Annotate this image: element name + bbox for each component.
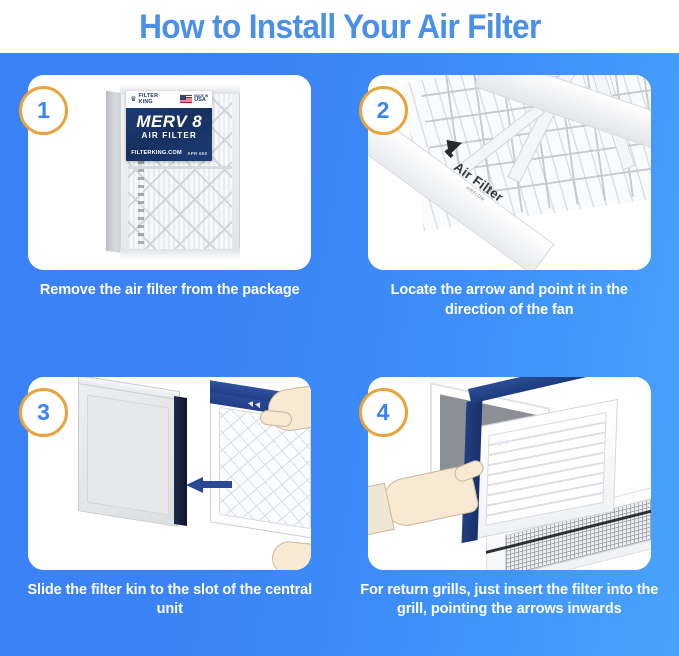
filter-product-image: ♛ FILTER KING MADE IN [106, 86, 240, 258]
step-3: 3 [0, 355, 340, 656]
step-caption-4: For return grills, just insert the filte… [359, 581, 659, 620]
made-in-usa-text: MADE IN USA [194, 95, 208, 104]
step-caption-3: Slide the filter kin to the slot of the … [20, 581, 320, 620]
header-band: How to Install Your Air Filter [0, 0, 679, 53]
step-2: 2 Air Filter AIRFLOW Locate the arrow an… [340, 53, 679, 355]
step-image-card-3 [28, 377, 311, 570]
filter-top-navy [468, 377, 608, 404]
apr-text: APR 650 [187, 151, 207, 156]
filter-label: ♛ FILTER KING MADE IN [126, 91, 212, 161]
step-badge-2: 2 [359, 86, 408, 135]
arrow-head [186, 477, 203, 493]
arrow-shaft [202, 481, 232, 488]
step-1: 1 [0, 53, 340, 355]
step-badge-1: 1 [19, 86, 68, 135]
filter-corner-photo: Air Filter AIRFLOW [368, 75, 651, 270]
crown-icon: ♛ [130, 96, 136, 103]
steps-grid: 1 [0, 53, 679, 656]
merv-rating: MERV 8 [126, 113, 212, 130]
filter-label-footer: FILTERKING.COM APR 650 [131, 150, 207, 156]
direction-arrow-icon [186, 477, 232, 491]
air-filter-photo: ♛ FILTER KING MADE IN [28, 75, 311, 270]
filter-label-header: ♛ FILTER KING MADE IN [126, 91, 212, 108]
return-grill-illustration [368, 377, 651, 570]
unit-slot-opening [87, 394, 169, 515]
step-caption-2: Locate the arrow and point it in the dir… [359, 281, 659, 320]
brand-name: FILTER KING [139, 94, 159, 105]
step-badge-4: 4 [359, 388, 408, 437]
unit-slot-body [78, 383, 178, 527]
us-flag-icon [180, 95, 192, 103]
infographic-page: How to Install Your Air Filter 1 [0, 0, 679, 656]
step-caption-1: Remove the air filter from the package [20, 281, 320, 301]
grill-louvers [485, 412, 606, 526]
made-in-usa-badge: MADE IN USA [180, 95, 208, 104]
slide-into-slot-illustration [28, 377, 311, 570]
step-4: 4 [340, 355, 679, 656]
filter-bottom-edge [120, 249, 240, 258]
unit-slot-gap [174, 395, 187, 525]
step-image-card-4 [368, 377, 651, 570]
product-type: AIR FILTER [126, 132, 212, 140]
website-text: FILTERKING.COM [131, 150, 182, 156]
brand-lockup: ♛ FILTER KING [130, 94, 158, 105]
step-image-card-1: ♛ FILTER KING MADE IN [28, 75, 311, 270]
hand-lower [271, 539, 312, 569]
step-image-card-2: Air Filter AIRFLOW [368, 75, 651, 270]
step-badge-3: 3 [19, 388, 68, 437]
page-title: How to Install Your Air Filter [139, 10, 541, 44]
